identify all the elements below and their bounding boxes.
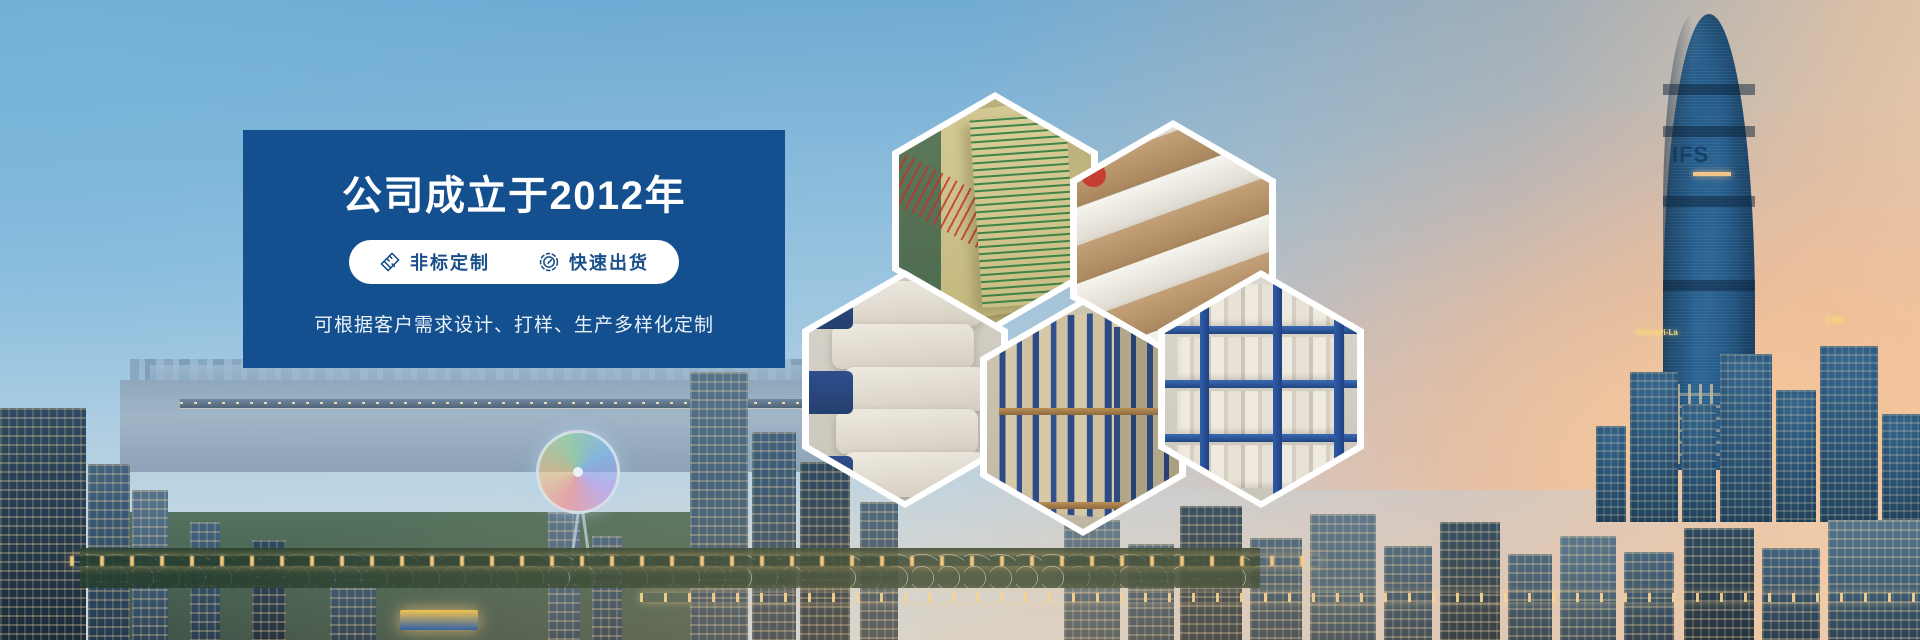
hero-banner: IFS Shangri-La CBD (0, 0, 1920, 640)
tower-band (1663, 280, 1755, 291)
panel-caption: 可根据客户需求设计、打样、生产多样化定制 (314, 310, 714, 337)
tower-lit-floor (1693, 172, 1731, 176)
image-warehouse-racking-sacks (1165, 277, 1357, 501)
feature-badge-pill: 非标定制 快速出货 (349, 240, 679, 284)
feature-label: 非标定制 (410, 249, 490, 275)
bag-green-logo (999, 130, 1057, 166)
feature-label: 快速出货 (569, 249, 649, 275)
page-title: 公司成立于2012年 (342, 176, 686, 216)
pen-ruler-icon (379, 251, 401, 273)
image-white-woven-sacks-pile (809, 277, 1001, 501)
sack-brand-logo (815, 284, 857, 315)
bag-green-text-block (995, 175, 1060, 265)
tower-band (1663, 196, 1755, 207)
image-palletized-bags-stack (987, 305, 1179, 529)
tower-band (1663, 126, 1755, 137)
feature-custom-manufacturing[interactable]: 非标定制 (379, 249, 490, 275)
tower-logo-text: IFS (1672, 142, 1709, 168)
pallet-wood-slat (999, 502, 1168, 509)
speedometer-icon (538, 251, 560, 273)
pallet-wood-slat (999, 408, 1168, 415)
promo-panel: 公司成立于2012年 非标定制 (243, 130, 785, 368)
hexagon-gallery (792, 92, 1292, 522)
feature-fast-shipping[interactable]: 快速出货 (538, 249, 649, 275)
tower-band (1663, 84, 1755, 95)
